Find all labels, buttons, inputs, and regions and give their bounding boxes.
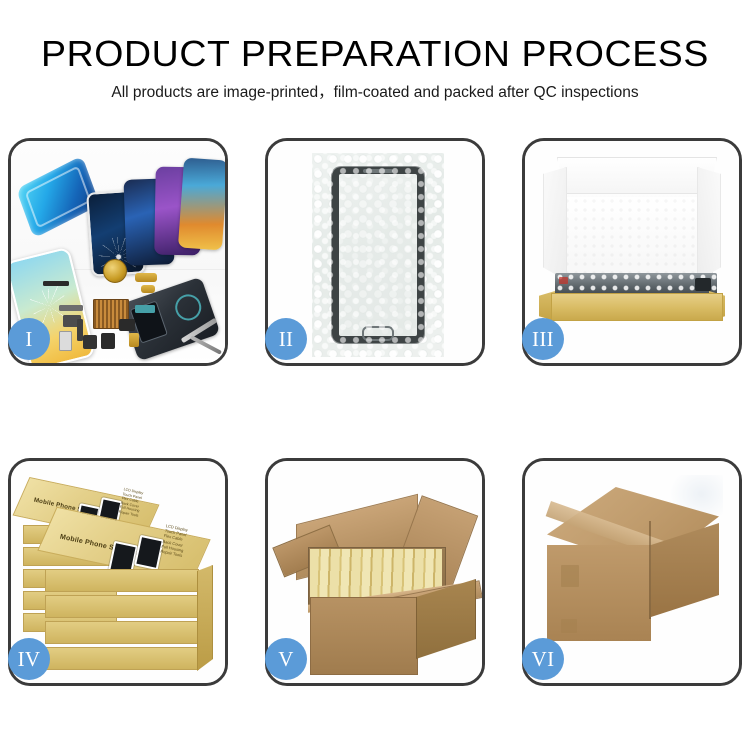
step-badge-3: III: [522, 318, 564, 360]
carton-mark-lower: [561, 619, 577, 633]
camera-module-part: [119, 319, 135, 331]
phone-screen-assembly: [332, 167, 424, 343]
gold-clip-part: [141, 285, 155, 293]
button-part: [83, 335, 97, 349]
box-flap-left: [543, 167, 567, 281]
carton-front-face: [310, 597, 418, 675]
process-step-5[interactable]: V: [265, 458, 485, 686]
gold-contact-part: [129, 333, 139, 347]
process-step-grid: I II III: [0, 138, 750, 686]
step-badge-2: II: [265, 318, 307, 360]
bubble-wrap-sheet: [312, 153, 444, 357]
gold-connector-part: [135, 273, 157, 282]
page-subtitle: All products are image-printed，film-coat…: [0, 83, 750, 103]
box-flap-right: [697, 167, 721, 281]
phone-display-gold: [178, 158, 225, 251]
spare-parts-cluster: [57, 275, 177, 357]
vibrator-part: [101, 333, 115, 349]
foam-lining: [563, 197, 709, 275]
step-badge-4: IV: [8, 638, 50, 680]
earpiece-slot-icon: [363, 169, 393, 173]
sim-tray-part: [59, 331, 72, 351]
step-badge-6: VI: [522, 638, 564, 680]
step-badge-1: I: [8, 318, 50, 360]
page-title: PRODUCT PREPARATION PROCESS: [0, 34, 750, 74]
antenna-part: [135, 305, 155, 313]
process-step-4[interactable]: Mobile Phone Spare Parts LCD DisplayTouc…: [8, 458, 228, 686]
speaker-coil-part: [103, 259, 127, 283]
process-step-1[interactable]: I: [8, 138, 228, 366]
kraft-box-tray: [551, 293, 723, 321]
step-badge-5: V: [265, 638, 307, 680]
page-header: PRODUCT PREPARATION PROCESS All products…: [0, 0, 750, 103]
carton-mark-upper: [561, 565, 579, 587]
carton-vertical-edge: [649, 521, 651, 619]
process-step-2[interactable]: II: [265, 138, 485, 366]
phone-fan-group: [89, 157, 219, 267]
home-button-icon: [362, 326, 394, 341]
bracket-part-a: [59, 305, 83, 311]
earpiece-part: [43, 281, 69, 286]
process-step-3[interactable]: III: [522, 138, 742, 366]
process-step-6[interactable]: VI: [522, 458, 742, 686]
